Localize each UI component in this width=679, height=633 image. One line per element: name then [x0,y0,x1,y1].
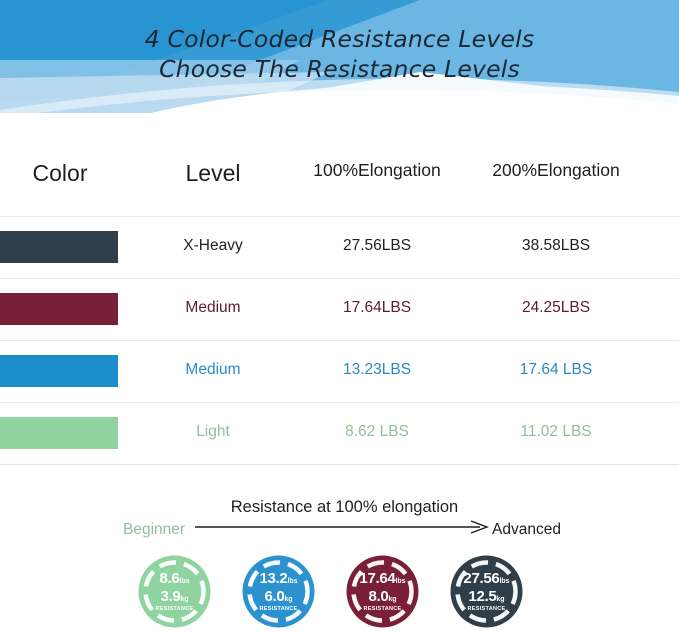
table-row: X-Heavy 27.56LBS 38.58LBS [0,216,679,278]
table-row: Medium 17.64LBS 24.25LBS [0,278,679,340]
resistance-badge: 13.2lbs 6.0kg RESISTANCE [241,554,316,629]
badge-fill [243,556,315,628]
cell-level: Light [196,423,230,441]
cell-200-elongation: 11.02 LBS [520,423,591,441]
cell-100-elongation: 13.23LBS [343,361,411,379]
cell-200-elongation: 38.58LBS [522,237,590,255]
scale-caption: Resistance at 100% elongation [0,498,679,517]
cell-level: X-Heavy [183,237,242,255]
cell-100-elongation: 27.56LBS [343,237,411,255]
cell-100-elongation: 17.64LBS [343,299,411,317]
banner-graphic [0,0,679,118]
badge-dial-icon [449,554,524,629]
header-banner: 4 Color-Coded Resistance Levels Choose T… [0,0,679,118]
badge-fill [347,556,419,628]
badge-dial-icon [345,554,420,629]
resistance-scale: Resistance at 100% elongation Beginner A… [0,498,679,546]
cell-200-elongation: 24.25LBS [522,299,590,317]
column-header-200-elongation: 200%Elongation [492,160,619,181]
table-header-row: Color Level 100%Elongation 200%Elongatio… [0,118,679,216]
badge-fill [451,556,523,628]
badge-dial-icon [241,554,316,629]
cell-200-elongation: 17.64 LBS [520,361,592,379]
color-swatch [0,417,118,449]
badge-fill [139,556,211,628]
column-header-level: Level [186,160,241,187]
table-bottom-divider [0,464,679,465]
color-swatch [0,355,118,387]
scale-advanced-label: Advanced [492,521,561,539]
resistance-badges: 8.6lbs 3.9kg RESISTANCE 13.2lbs 6.0kg RE… [0,550,679,633]
cell-level: Medium [185,299,240,317]
column-header-color: Color [33,160,88,187]
scale-arrow-icon [195,520,490,534]
resistance-badge: 17.64lbs 8.0kg RESISTANCE [345,554,420,629]
scale-beginner-label: Beginner [123,521,185,539]
table-row: Medium 13.23LBS 17.64 LBS [0,340,679,402]
table-row: Light 8.62 LBS 11.02 LBS [0,402,679,464]
color-swatch [0,293,118,325]
badge-dial-icon [137,554,212,629]
color-swatch [0,231,118,263]
cell-100-elongation: 8.62 LBS [345,423,409,441]
cell-level: Medium [185,361,240,379]
resistance-badge: 8.6lbs 3.9kg RESISTANCE [137,554,212,629]
resistance-badge: 27.56lbs 12.5kg RESISTANCE [449,554,524,629]
column-header-100-elongation: 100%Elongation [313,160,440,181]
resistance-table: Color Level 100%Elongation 200%Elongatio… [0,118,679,465]
